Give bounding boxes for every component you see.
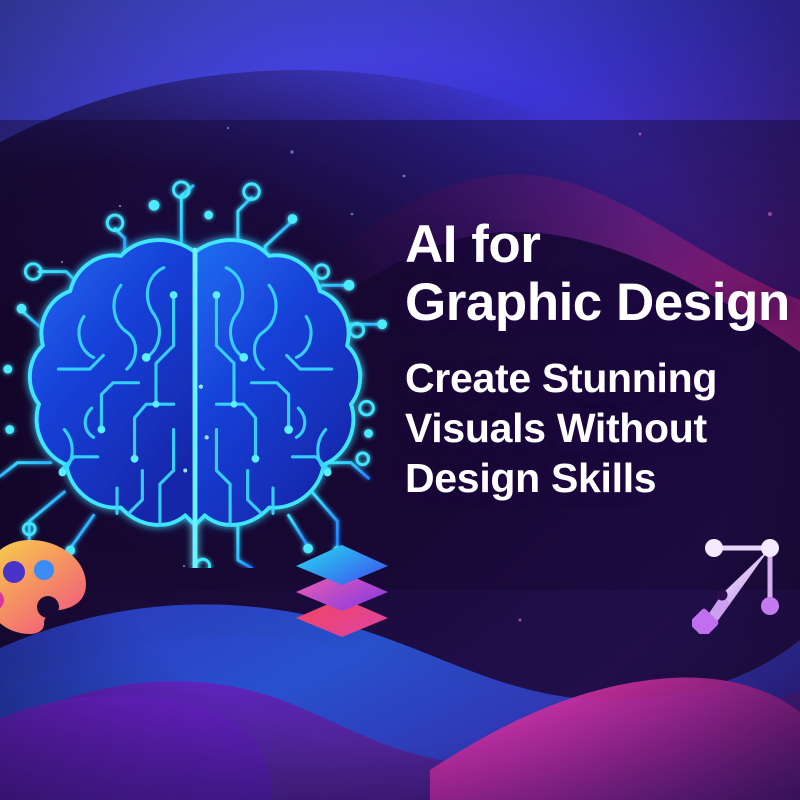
ai-graphic-design-banner: AI for Graphic Design Create Stunning Vi… xyxy=(0,0,800,800)
pen-tool-icon xyxy=(692,532,792,634)
paint-palette-icon xyxy=(0,536,92,636)
headline-line-1: AI for xyxy=(405,216,800,274)
page-title: AI for Graphic Design xyxy=(405,216,800,333)
headline-text-block: AI for Graphic Design Create Stunning Vi… xyxy=(405,216,800,503)
layers-icon xyxy=(293,542,391,638)
ai-circuit-brain-icon xyxy=(0,178,390,568)
subtitle-line-3: Design Skills xyxy=(405,453,800,503)
subtitle-line-1: Create Stunning xyxy=(405,353,800,403)
headline-line-2: Graphic Design xyxy=(405,274,800,332)
subtitle-line-2: Visuals Without xyxy=(405,403,800,453)
page-subtitle: Create Stunning Visuals Without Design S… xyxy=(405,353,800,503)
